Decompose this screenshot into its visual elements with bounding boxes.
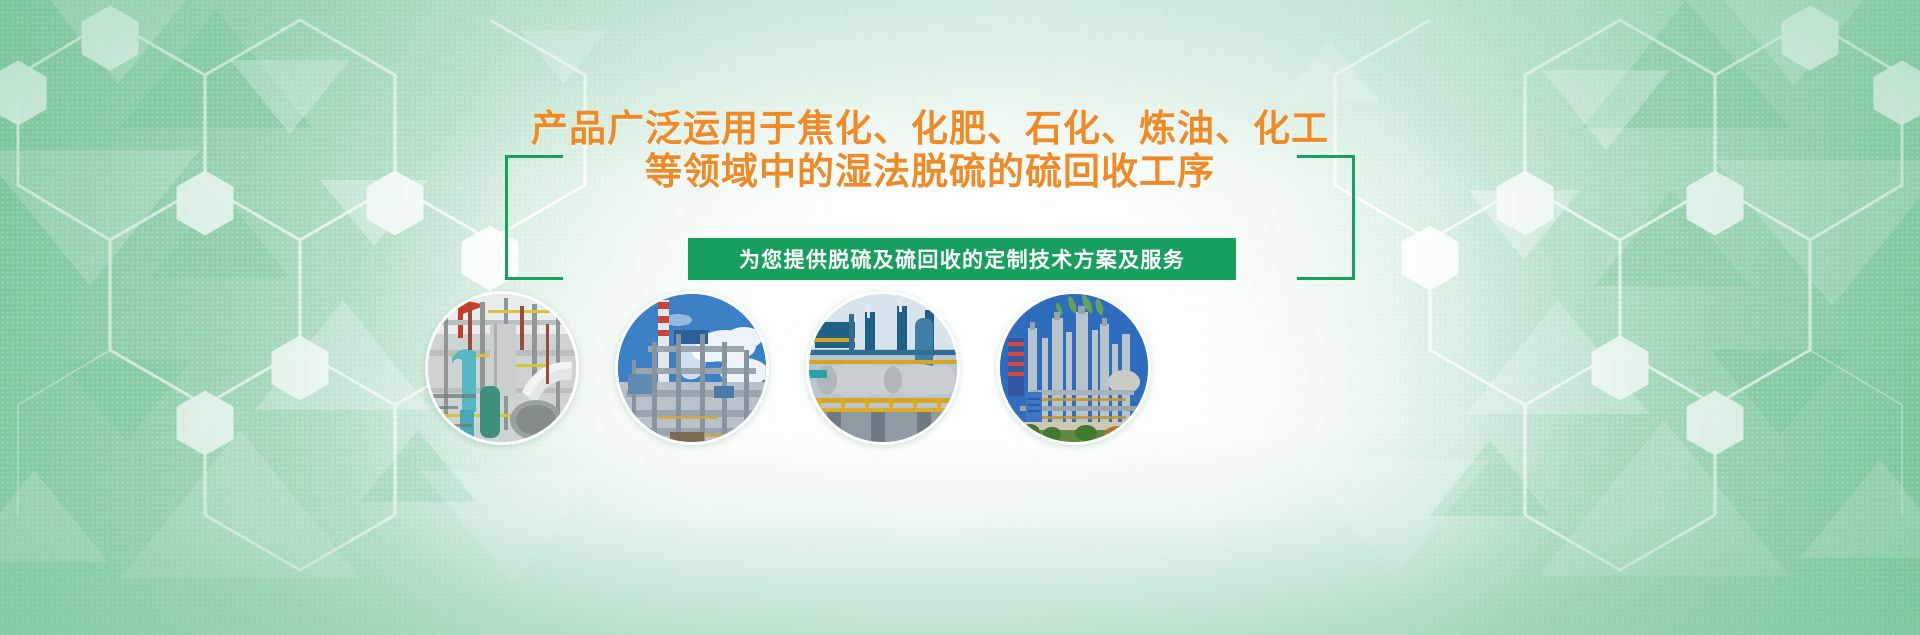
headline-line-1: 产品广泛运用于焦化、化肥、石化、炼油、化工 bbox=[480, 108, 1380, 151]
photo-refinery-columns bbox=[997, 291, 1151, 445]
bracket-bottom-right-rule bbox=[1297, 277, 1355, 280]
headline: 产品广泛运用于焦化、化肥、石化、炼油、化工 等领域中的湿法脱硫的硫回收工序 bbox=[480, 108, 1380, 194]
bottom-edge-shade bbox=[0, 515, 1920, 635]
photo-desulfurization-plant bbox=[425, 291, 579, 445]
banner-stage: 产品广泛运用于焦化、化肥、石化、炼油、化工 等领域中的湿法脱硫的硫回收工序 为您… bbox=[0, 0, 1920, 635]
subtitle-text: 为您提供脱硫及硫回收的定制技术方案及服务 bbox=[739, 244, 1185, 274]
photo-storage-tanks bbox=[806, 291, 960, 445]
photo-row bbox=[425, 291, 1495, 451]
subtitle-bar: 为您提供脱硫及硫回收的定制技术方案及服务 bbox=[688, 238, 1236, 280]
bracket-bottom-left-rule bbox=[505, 277, 563, 280]
headline-line-2: 等领域中的湿法脱硫的硫回收工序 bbox=[480, 151, 1380, 194]
photo-chimney-stack bbox=[615, 291, 769, 445]
